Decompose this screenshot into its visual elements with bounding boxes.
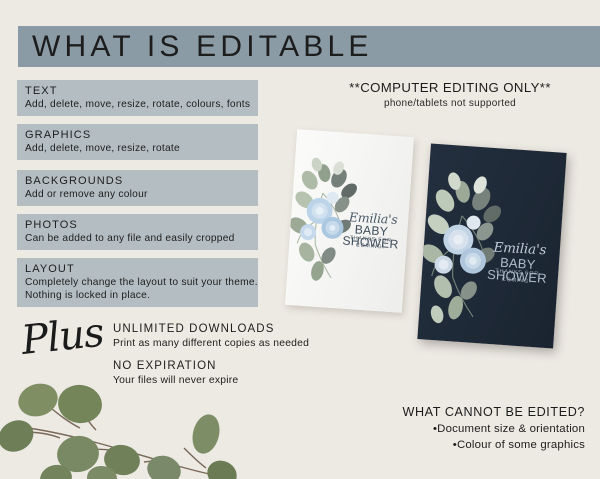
perk-unlimited-downloads: UNLIMITED DOWNLOADS Print as many differ… <box>113 322 309 351</box>
cannot-edit-title: WHAT CANNOT BE EDITED? <box>402 404 585 421</box>
feature-title: TEXT <box>25 84 258 98</box>
perk-title: NO EXPIRATION <box>113 359 238 374</box>
feature-desc: Nothing is locked in place. <box>25 289 258 302</box>
plus-script-label: Plus <box>19 310 105 364</box>
card-mockup-navy: Emilia's BABY SHOWER THANKS FOR COMING! <box>417 143 566 348</box>
perk-desc: Print as many different copies as needed <box>113 337 309 351</box>
feature-desc: Completely change the layout to suit you… <box>25 276 258 289</box>
card-mockup-white: Emilia's BABY SHOWER THANKS FOR COMING! <box>285 129 414 313</box>
feature-title: PHOTOS <box>25 218 258 232</box>
feature-title: LAYOUT <box>25 262 258 276</box>
editable-info-page: WHAT IS EDITABLE TEXT Add, delete, move,… <box>0 0 600 479</box>
feature-desc: Add, delete, move, resize, rotate <box>25 142 258 155</box>
feature-desc: Can be added to any file and easily crop… <box>25 232 258 245</box>
feature-title: GRAPHICS <box>25 128 258 142</box>
page-title: WHAT IS EDITABLE <box>32 28 532 66</box>
feature-box-text: TEXT Add, delete, move, resize, rotate, … <box>17 80 258 116</box>
feature-box-graphics: GRAPHICS Add, delete, move, resize, rota… <box>17 124 258 160</box>
cannot-edit-item: •Document size & orientation <box>433 421 585 437</box>
cannot-edit-item: •Colour of some graphics <box>453 437 585 453</box>
computer-editing-note-sub: phone/tablets not supported <box>300 97 600 111</box>
feature-box-layout: LAYOUT Completely change the layout to s… <box>17 258 258 307</box>
feature-desc: Add, delete, move, resize, rotate, colou… <box>25 98 258 111</box>
feature-desc: Add or remove any colour <box>25 188 258 201</box>
eucalyptus-sprig-icon <box>0 378 254 479</box>
computer-editing-note-title: **COMPUTER EDITING ONLY** <box>300 79 600 96</box>
feature-box-photos: PHOTOS Can be added to any file and easi… <box>17 214 258 250</box>
feature-title: BACKGROUNDS <box>25 174 258 188</box>
feature-box-backgrounds: BACKGROUNDS Add or remove any colour <box>17 170 258 206</box>
perk-title: UNLIMITED DOWNLOADS <box>113 322 309 337</box>
